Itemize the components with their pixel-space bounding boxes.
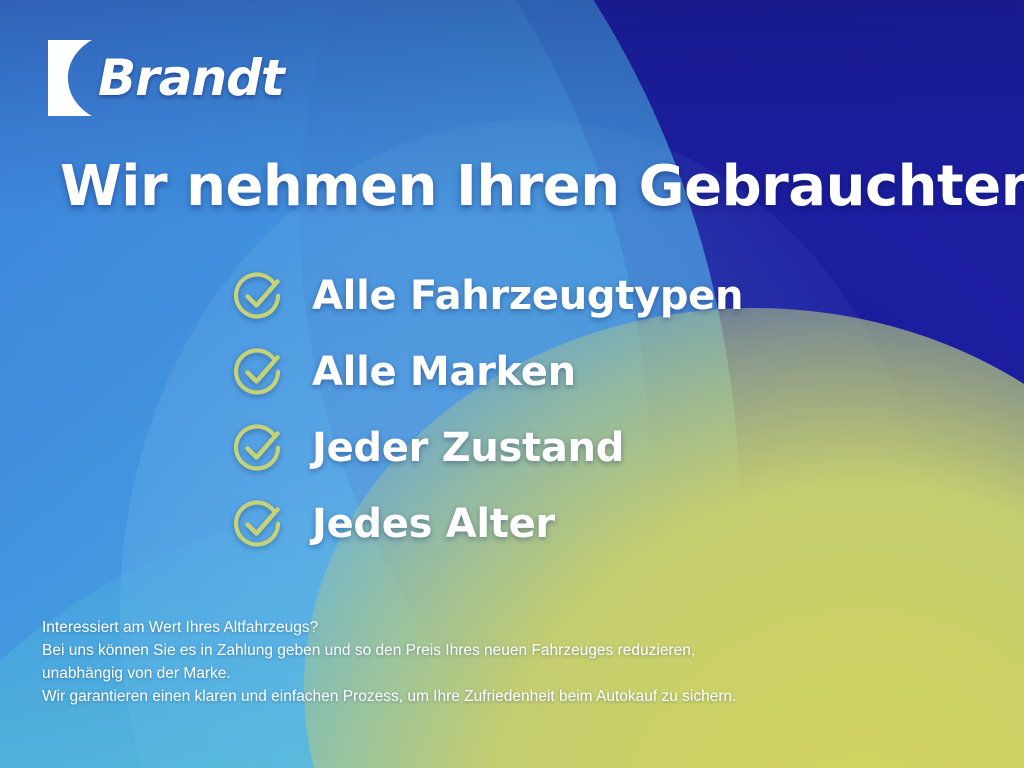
- list-item: Jeder Zustand: [232, 410, 932, 486]
- footer-line-4: Wir garantieren einen klaren und einfach…: [42, 685, 972, 708]
- brand-logo[interactable]: Brandt: [48, 40, 284, 116]
- check-circle-icon: [232, 421, 286, 475]
- banner-content: Brandt Wir nehmen Ihren Gebrauchten! All…: [0, 0, 1024, 768]
- list-item-label: Jedes Alter: [312, 504, 555, 544]
- list-item-label: Alle Fahrzeugtypen: [312, 276, 743, 316]
- list-item: Jedes Alter: [232, 486, 932, 562]
- list-item-label: Jeder Zustand: [312, 428, 624, 468]
- promo-banner: Brandt Wir nehmen Ihren Gebrauchten! All…: [0, 0, 1024, 768]
- check-circle-icon: [232, 345, 286, 399]
- brandt-crescent-mark-icon: [48, 40, 92, 116]
- footer-line-3: unabhängig von der Marke.: [42, 662, 972, 685]
- page-title: Wir nehmen Ihren Gebrauchten!: [60, 158, 980, 217]
- list-item: Alle Fahrzeugtypen: [232, 258, 932, 334]
- brand-name: Brandt: [98, 53, 284, 103]
- check-circle-icon: [232, 269, 286, 323]
- footer-description: Interessiert am Wert Ihres Altfahrzeugs?…: [42, 616, 972, 708]
- check-circle-icon: [232, 497, 286, 551]
- footer-line-2: Bei uns können Sie es in Zahlung geben u…: [42, 639, 972, 662]
- feature-list: Alle Fahrzeugtypen Alle Marken Jeder Zus…: [232, 258, 932, 562]
- list-item-label: Alle Marken: [312, 352, 576, 392]
- list-item: Alle Marken: [232, 334, 932, 410]
- footer-line-1: Interessiert am Wert Ihres Altfahrzeugs?: [42, 616, 972, 639]
